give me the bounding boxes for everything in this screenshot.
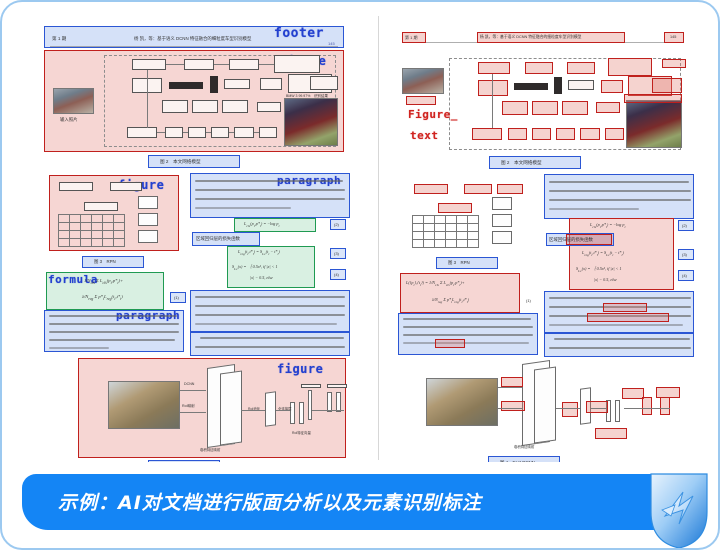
r-subheading-reg-loss: 区域回归层的损失函数 xyxy=(549,237,593,243)
page-divider xyxy=(378,16,379,460)
equation-number-4: (4) xyxy=(334,272,339,277)
header-issue: 第 1 期 xyxy=(52,36,66,42)
formula-1-body-2: λ/Nreg Σ p*iLreg(ti,t*i) xyxy=(82,294,123,301)
header-page-no: 145 xyxy=(328,41,335,46)
r-figure4-fc-2 xyxy=(615,400,620,422)
figure2-node-p1 xyxy=(165,127,183,138)
figure2-node-featmap-c xyxy=(224,79,250,89)
r-figure4-featmap-caption: 卷积特征映射 xyxy=(514,444,534,449)
r-element-node-f3[interactable] xyxy=(562,101,588,115)
figure2-node-f2 xyxy=(192,100,218,113)
r-element-node-f1[interactable] xyxy=(502,101,528,115)
r-element-node-fastrcnn[interactable] xyxy=(652,78,682,93)
figure4-fc-2 xyxy=(299,402,304,424)
figure4-conn-2 xyxy=(180,412,206,413)
r-element-node-p3[interactable] xyxy=(556,128,575,140)
r-element-formula-1[interactable] xyxy=(400,273,520,313)
caption-figure-3: 图 3 RPN xyxy=(94,259,116,265)
figure2-connector-v1 xyxy=(147,70,148,128)
figure3-node-3x3conv xyxy=(59,182,93,191)
figure4-fc-5 xyxy=(336,392,341,412)
formula-2-body: Lcls(pi,p*i) = −log pi xyxy=(244,221,280,228)
r-element-fc-small-1[interactable] xyxy=(642,397,652,415)
r-element-node-out-softmax[interactable] xyxy=(608,58,652,76)
banner-text: 示例：AI对文档进行版面分析以及元素识别标注 xyxy=(58,488,482,515)
r-element-inline-formula[interactable] xyxy=(435,339,465,348)
r-figure3-anchor-1 xyxy=(492,197,512,210)
r-element-node-roi[interactable] xyxy=(525,62,553,74)
r-element-node-fc[interactable] xyxy=(567,62,595,74)
figure4-fc-4 xyxy=(327,392,332,412)
figure2-node-result xyxy=(259,127,277,138)
r-figure3-anchor-2 xyxy=(492,214,512,227)
figure4-node-softmax xyxy=(301,384,321,388)
r-header-issue: 第 1 期 xyxy=(405,35,417,41)
r-element-inline-vars[interactable] xyxy=(603,303,647,312)
figure4-fc-3 xyxy=(308,390,312,420)
equation-number-2: (2) xyxy=(334,222,339,227)
region-paragraph-right-bottom[interactable] xyxy=(190,332,350,356)
r-element-node-softmax[interactable] xyxy=(580,128,600,140)
figure2-node-p3 xyxy=(211,127,229,138)
caption-banner: 示例：AI对文档进行版面分析以及元素识别标注 xyxy=(22,474,682,530)
figure4-featmap-back xyxy=(220,370,242,445)
figure2-input-image xyxy=(53,88,94,114)
r-element-fc-small-2[interactable] xyxy=(660,397,670,415)
region-caption-figure-4[interactable] xyxy=(148,460,220,462)
r-element-4k[interactable] xyxy=(464,184,492,194)
r-element-256d[interactable] xyxy=(438,203,472,213)
figure2-node-roi xyxy=(184,59,214,70)
r-formula-1-body: L({pi},{ti}) = 1/Ncls Σ Lcls(pi,p*i)+ xyxy=(406,280,465,287)
figure2-node-featmap-b xyxy=(210,76,218,93)
caption-figure-2: 图 2 本文网络模型 xyxy=(160,159,201,165)
figure2-node-avgpool xyxy=(257,102,281,112)
figure4-featmap-label: 卷积特征映射 xyxy=(200,447,220,452)
header-title: 杨 凯，等：基于语义 DCNN 特征融合的细粒度车型识别模型 xyxy=(134,36,251,42)
slide-root: 第 1 期 杨 凯，等：基于语义 DCNN 特征融合的细粒度车型识别模型 foo… xyxy=(0,0,720,550)
r-element-fc-label[interactable] xyxy=(586,401,608,413)
figure3-anchor-box-3 xyxy=(138,230,158,243)
formula-4-body: SL1(x) = ｛ 0.5x², if |x| < 1 xyxy=(232,264,278,271)
r-element-input-caption[interactable] xyxy=(406,96,436,105)
figure2-node-concat xyxy=(260,78,282,90)
equation-number-1: (1) xyxy=(174,295,179,300)
r-figure3-anchor-3 xyxy=(492,231,512,244)
figure2-node-f3 xyxy=(222,100,248,113)
figure4-dcnn-label: DCNN xyxy=(184,382,194,386)
figure2-node-featfusion xyxy=(127,127,157,138)
r-header-title: 杨 凯，等：基于语义 DCNN 特征融合的细粒度车型识别模型 xyxy=(480,35,581,40)
header-rule xyxy=(50,46,338,47)
r-equation-number-2: (2) xyxy=(682,223,687,228)
figure2-node-conv xyxy=(132,59,166,70)
figure4-roivector-label: RoI特征向量 xyxy=(292,430,311,435)
figure4-conn-1 xyxy=(180,390,206,391)
figure2-connector-h8 xyxy=(254,132,259,133)
figure4-input-image xyxy=(108,381,180,429)
r-figure4-input-image xyxy=(426,378,498,426)
figure2-result-image xyxy=(284,98,338,146)
r-figure2-featmap-b xyxy=(554,77,562,94)
figure4-conn-5 xyxy=(312,410,344,411)
right-page-element-recognition: 第 1 期 杨 凯，等：基于语义 DCNN 特征融合的细粒度车型识别模型 145… xyxy=(384,10,709,462)
r-element-node-conv[interactable] xyxy=(478,62,510,74)
figure3-feature-grid xyxy=(58,214,124,247)
figure3-node-256d xyxy=(84,202,118,211)
formula-3-body: Lreg(ti,t*i) = SL1(ti − t*i) xyxy=(238,249,280,256)
r-caption-figure-3: 图 3 RPN xyxy=(448,260,470,266)
left-page-layout-analysis: 第 1 期 杨 凯，等：基于语义 DCNN 特征融合的细粒度车型识别模型 foo… xyxy=(22,10,367,462)
r-figure4-featmap-back xyxy=(534,366,556,443)
figure2-result-caption: BMW 3 99.97% 识别结果 xyxy=(286,94,328,99)
r-figure2-featmap-c xyxy=(568,80,594,90)
r-figure4-conn-2 xyxy=(498,408,522,409)
r-element-node-avgpool[interactable] xyxy=(596,102,620,113)
formula-4-body-2: |x| − 0.5, else xyxy=(250,275,273,280)
figure3-anchor-box-1 xyxy=(138,196,158,209)
r-figure2-featmap-a xyxy=(514,83,548,90)
r-element-node-p2[interactable] xyxy=(532,128,551,140)
figure4-roi-pool xyxy=(265,391,276,427)
equation-number-3: (3) xyxy=(334,251,339,256)
r-element-dcnn-label[interactable] xyxy=(501,377,523,387)
r-element-roimap-label[interactable] xyxy=(501,401,525,411)
r-formula-3-body: Lreg(ti,t*i) = SL1(ti − t*i) xyxy=(582,250,624,257)
r-formula-4-body-2: |x| − 0.5, else xyxy=(594,277,617,282)
figure2-connector-h5 xyxy=(183,132,188,133)
r-formula-4-body: SL1(x) = ｛ 0.5x², if |x| < 1 xyxy=(576,266,622,273)
r-equation-number-4: (4) xyxy=(682,273,687,278)
r-figure2-conn-v xyxy=(492,74,493,128)
r-caption-figure-4: 图 4 Fast RCNN xyxy=(500,460,535,462)
figure2-connector-h1 xyxy=(166,64,184,65)
subheading-reg-loss: 区域回归层的损失函数 xyxy=(196,236,240,242)
r-figure4-conn-3 xyxy=(556,408,580,409)
r-equation-number-3: (3) xyxy=(682,252,687,257)
r-formula-2-body: Lcls(pi,p*i) = −log pi xyxy=(590,222,626,229)
r-element-softmax-label[interactable] xyxy=(622,388,644,399)
r-figure4-conn-1 xyxy=(498,387,522,388)
r-element-roivector-label[interactable] xyxy=(595,428,627,439)
figure2-node-p2 xyxy=(188,127,206,138)
r-figure4-conn-5 xyxy=(624,408,670,409)
r-element-node-result[interactable] xyxy=(605,128,624,140)
figure4-roimap-label: RoI映射 xyxy=(182,404,195,409)
r-figure4-conn-4 xyxy=(591,408,606,409)
r-element-roipool-label[interactable] xyxy=(562,402,578,417)
r-element-node-feature1[interactable] xyxy=(478,80,508,96)
figure3-anchor-box-2 xyxy=(138,213,158,226)
figure2-connector-h2 xyxy=(214,64,229,65)
r-caption-figure-2: 图 2 本文网络模型 xyxy=(501,160,542,166)
figure2-connector-h4 xyxy=(157,132,165,133)
figure2-node-fastrcnn xyxy=(310,76,338,90)
figure2-connector-h7 xyxy=(229,132,234,133)
r-element-node-concat[interactable] xyxy=(601,80,623,93)
shield-arrow-logo xyxy=(649,472,709,550)
r-element-node-regionbox[interactable] xyxy=(662,59,686,68)
r-formula-1-body-2: λ/Nreg Σ p*iLreg(ti,t*i) xyxy=(432,297,469,304)
r-equation-number-1: (1) xyxy=(526,298,531,303)
figure4-conn-3 xyxy=(241,410,265,411)
r-header-page-no: 145 xyxy=(670,35,676,39)
label-figure-text-line-2: text xyxy=(410,129,439,142)
figure2-node-f1 xyxy=(162,100,188,113)
r-element-result-caption[interactable] xyxy=(624,94,682,103)
figure2-connector-h6 xyxy=(206,132,211,133)
r-element-inline-params[interactable] xyxy=(587,313,669,322)
r-figure3-feature-grid xyxy=(412,215,478,248)
r-element-node-f2[interactable] xyxy=(532,101,558,115)
r-figure2-result-image xyxy=(626,100,682,148)
figure2-node-fc xyxy=(229,59,259,70)
r-element-node-featfusion[interactable] xyxy=(472,128,502,140)
r-region-paragraph-right-bottom[interactable] xyxy=(544,333,694,357)
figure4-conn-4 xyxy=(276,410,290,411)
formula-1-body: 1/Ncls Σ Lcls(pi,p*i)+ xyxy=(84,278,123,285)
r-element-node-p1[interactable] xyxy=(508,128,527,140)
figure2-node-featmap-a xyxy=(169,82,203,89)
document-canvas: 第 1 期 杨 凯，等：基于语义 DCNN 特征融合的细粒度车型识别模型 foo… xyxy=(12,10,712,462)
r-element-nbox[interactable] xyxy=(497,184,523,194)
r-element-3x3conv[interactable] xyxy=(414,184,448,194)
figure2-node-softmax xyxy=(234,127,254,138)
figure2-node-out-softmax xyxy=(274,55,320,73)
figure4-node-regress xyxy=(327,384,347,388)
figure2-connector-h3 xyxy=(259,64,274,65)
r-figure2-input-image xyxy=(402,68,444,94)
figure2-input-caption: 输入照片 xyxy=(60,117,78,123)
figure3-node-4k xyxy=(110,182,142,191)
